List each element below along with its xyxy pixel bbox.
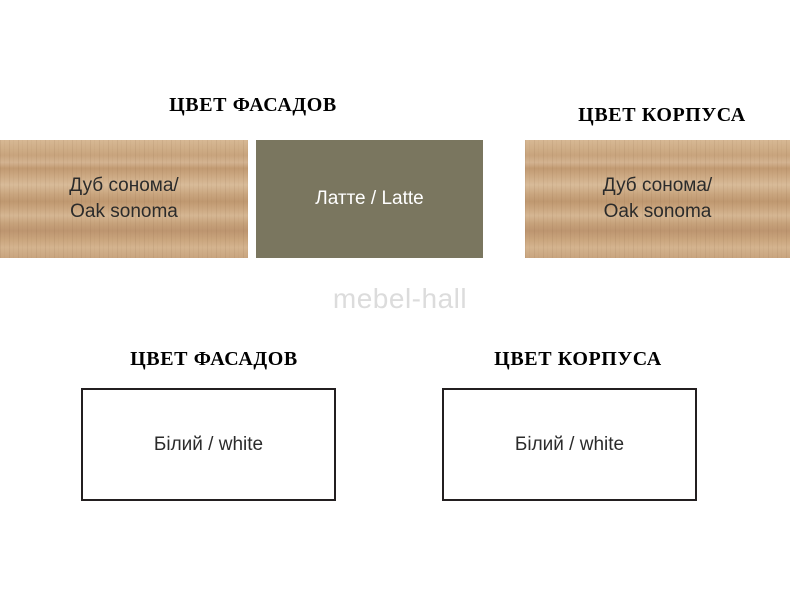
heading-body-color-bottom: ЦВЕТ КОРПУСА [474,348,682,371]
heading-facade-color-top: ЦВЕТ ФАСАДОВ [150,94,356,117]
heading-facade-color-bottom: ЦВЕТ ФАСАДОВ [110,348,318,371]
swatch-label-latte-facade: Латте / Latte [315,186,423,212]
color-options-board: ЦВЕТ ФАСАДОВ ЦВЕТ КОРПУСА Дуб сонома/ Oa… [0,0,800,600]
swatch-label-oak-sonoma-body: Дуб сонома/ Oak sonoma [603,173,712,225]
swatch-white-body[interactable]: Білий / white [442,388,697,501]
heading-body-color-top: ЦВЕТ КОРПУСА [558,104,766,127]
swatch-label-white-body: Білий / white [515,432,624,458]
watermark: mebel-hall [0,283,800,315]
swatch-oak-sonoma-body[interactable]: Дуб сонома/ Oak sonoma [525,140,790,258]
swatch-oak-sonoma-facade[interactable]: Дуб сонома/ Oak sonoma [0,140,248,258]
swatch-white-facade[interactable]: Білий / white [81,388,336,501]
swatch-label-white-facade: Білий / white [154,432,263,458]
swatch-latte-facade[interactable]: Латте / Latte [256,140,483,258]
swatch-label-oak-sonoma-facade: Дуб сонома/ Oak sonoma [69,173,178,225]
